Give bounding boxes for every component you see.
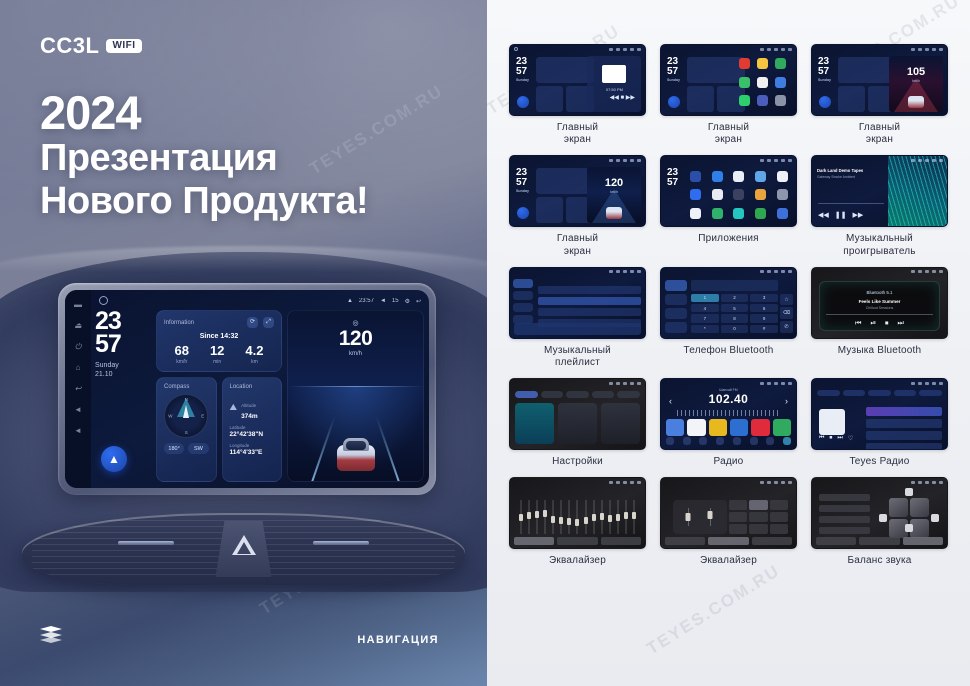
- thumbnail-settings[interactable]: [509, 378, 646, 450]
- preset-station[interactable]: [730, 419, 748, 436]
- watermark: TEYES.COM.RU: [643, 561, 784, 659]
- tab-item[interactable]: [894, 390, 917, 396]
- latitude-label: Latitude: [230, 425, 275, 430]
- dashboard-edge-highlight: [0, 246, 487, 272]
- play-pause-icon[interactable]: ⏯: [870, 320, 876, 328]
- balance-pad[interactable]: [889, 498, 929, 538]
- information-title: Information: [164, 320, 194, 326]
- dial-key[interactable]: *: [691, 325, 719, 333]
- option-row[interactable]: [819, 494, 870, 501]
- tab-balance[interactable]: [708, 537, 748, 545]
- dialer-sidebar[interactable]: [665, 280, 687, 334]
- back-arrow-icon[interactable]: ↩: [416, 298, 421, 305]
- expand-icon[interactable]: ⤢: [263, 317, 274, 328]
- recents-icon[interactable]: [665, 308, 687, 319]
- fader-pair[interactable]: [673, 500, 727, 534]
- tab-fader[interactable]: [601, 537, 641, 545]
- driving-view-mini: 120 km/h: [587, 167, 641, 223]
- screens-grid: 2357Sunday 07:50 PM ◀◀ ■ ▶▶ Главныйэкран…: [509, 44, 948, 568]
- location-card[interactable]: Location ⛰ Altitude 374m Latitude: [222, 377, 283, 482]
- tab-fader[interactable]: [752, 537, 792, 545]
- list-item[interactable]: [538, 297, 641, 305]
- list-item[interactable]: [538, 308, 641, 316]
- preset-station[interactable]: [687, 419, 705, 436]
- equalizer-tabs[interactable]: [816, 537, 943, 545]
- album-art: [819, 409, 845, 435]
- gallery-item[interactable]: Шанхай FM ‹ 102.40 ›: [660, 378, 797, 468]
- gallery-caption: Музыкальныйпроигрыватель: [843, 233, 915, 257]
- gallery-item[interactable]: Настройки: [509, 378, 646, 468]
- tab-system[interactable]: [617, 391, 640, 398]
- compass-n: N: [185, 397, 188, 402]
- car-model: [335, 431, 377, 471]
- thumbnail-home-apps[interactable]: 2357Sunday: [660, 44, 797, 116]
- balance-options[interactable]: [819, 494, 870, 538]
- progress-bar[interactable]: [818, 203, 884, 205]
- left-hero-panel: TEYES.COM.RU TEYES.COM.RU TEYES.COM.RU C…: [0, 0, 487, 686]
- fader[interactable]: [518, 500, 524, 534]
- bluetooth-version: Bluetooth 5.1: [812, 290, 947, 295]
- thumbnail-bluetooth-phone[interactable]: 1 2 3 4 5 6 7 8 9 * 0 # ☆: [660, 267, 797, 339]
- product-logo: CC3L WIFI: [40, 33, 142, 59]
- volume-icon: ◄: [380, 298, 386, 304]
- information-card[interactable]: Information ⟳ ⤢ Since 14:32 68 km: [156, 310, 282, 372]
- fader[interactable]: [631, 500, 637, 534]
- preset-button[interactable]: [749, 512, 767, 522]
- gallery-caption: Телефон Bluetooth: [684, 345, 774, 357]
- hazard-triangle-inner: [237, 542, 251, 554]
- preset-button[interactable]: [770, 512, 788, 522]
- power-icon[interactable]: ⏻: [74, 342, 83, 351]
- station-presets[interactable]: [666, 419, 791, 436]
- call-icon[interactable]: ✆: [780, 321, 793, 333]
- gallery-caption: Музыкальныйплейлист: [544, 345, 611, 369]
- track-title: Dark Land Demo Tapes: [817, 168, 885, 173]
- gallery-item[interactable]: Dark Land Demo Tapes Gateway Smoke Ambie…: [811, 155, 948, 257]
- radio-frequency: 102.40: [661, 392, 796, 406]
- stat-duration: 12 min: [210, 344, 224, 365]
- fader[interactable]: [526, 500, 532, 534]
- app-icon[interactable]: [777, 189, 788, 200]
- playback-controls[interactable]: ◀◀ ❚❚ ▶▶: [818, 211, 863, 219]
- fader[interactable]: [534, 500, 540, 534]
- next-icon[interactable]: ⏭: [837, 435, 842, 442]
- app-icon[interactable]: [755, 189, 766, 200]
- compass-s: S: [185, 430, 188, 435]
- preset-station[interactable]: [773, 419, 791, 436]
- app-icon[interactable]: [777, 208, 788, 219]
- favorite-icon[interactable]: [750, 437, 758, 445]
- navigation-arrow-icon[interactable]: [517, 96, 529, 108]
- compass-e: E: [201, 414, 204, 419]
- app-icon[interactable]: [733, 208, 744, 219]
- navigation-arrow-icon[interactable]: [668, 96, 680, 108]
- option-row[interactable]: [819, 516, 870, 523]
- balance-right-button[interactable]: [931, 514, 939, 522]
- equalizer-tabs[interactable]: [514, 537, 641, 545]
- thumbnail-equalizer-bands[interactable]: [509, 477, 646, 549]
- home-icon[interactable]: ⌂: [74, 363, 83, 372]
- favorite-icon[interactable]: ♡: [848, 435, 853, 442]
- thumb-clock: 2357Sunday: [667, 57, 680, 82]
- search-icon[interactable]: [683, 437, 691, 445]
- track-title: Feels Like Summer: [812, 299, 947, 304]
- menu-icon[interactable]: ▬: [74, 300, 83, 309]
- home-icon[interactable]: [99, 296, 108, 305]
- next-station-icon[interactable]: ›: [785, 396, 788, 406]
- screens-gallery-panel: TEYES.COM.RU TEYES.COM.RU TEYES.COM.RU 2…: [487, 0, 970, 686]
- app-icon[interactable]: [712, 171, 723, 182]
- apps-icon[interactable]: [783, 437, 791, 445]
- dial-key[interactable]: #: [750, 325, 778, 333]
- wifi-icon: ▲: [347, 298, 353, 304]
- gallery-item[interactable]: 2357Sunday 120 km/h Главныйэкран: [509, 155, 646, 257]
- now-playing-bar[interactable]: [514, 323, 641, 335]
- band-icon[interactable]: [666, 437, 674, 445]
- compass-degrees: 180°: [164, 443, 184, 454]
- back-icon[interactable]: ↩: [74, 384, 83, 393]
- tab-item[interactable]: [843, 390, 866, 396]
- thumbnail-music-playlist[interactable]: [509, 267, 646, 339]
- fader[interactable]: [623, 500, 629, 534]
- preset-station[interactable]: [709, 419, 727, 436]
- fader[interactable]: [550, 500, 556, 534]
- backspace-icon[interactable]: ⌫: [780, 307, 793, 319]
- vent-slot-left: [118, 541, 174, 545]
- dial-key[interactable]: 8: [721, 314, 749, 322]
- tab-balance[interactable]: [557, 537, 597, 545]
- tab-display[interactable]: [566, 391, 589, 398]
- location-title: Location: [230, 384, 275, 390]
- volume-down-icon[interactable]: ◄: [74, 405, 83, 414]
- gallery-item[interactable]: Музыкальныйплейлист: [509, 267, 646, 369]
- preset-button[interactable]: [729, 524, 747, 534]
- preset-button[interactable]: [770, 524, 788, 534]
- thumb-clock: 2357Sunday: [516, 168, 529, 193]
- tab-item[interactable]: [919, 390, 942, 396]
- thumbnail-apps[interactable]: 2357: [660, 155, 797, 227]
- waveform-art: [888, 156, 947, 226]
- app-icon[interactable]: [755, 208, 766, 219]
- list-item[interactable]: [866, 443, 942, 450]
- option-row[interactable]: [819, 527, 870, 534]
- head-unit-bezel: ▬ ⏏ ⏻ ⌂ ↩ ◄ ◄ ▲ 23:57 ◄ 15 ⚙ ↩: [58, 283, 436, 495]
- stop-icon[interactable]: ⏹: [829, 435, 832, 442]
- speaker-front-right[interactable]: [910, 498, 929, 517]
- previous-icon[interactable]: ◀◀: [818, 211, 829, 219]
- gallery-item[interactable]: Эквалайзер: [660, 477, 797, 567]
- compass-direction: SW: [188, 443, 208, 454]
- clock-date: 21.10: [95, 371, 151, 380]
- list-item[interactable]: [866, 407, 942, 416]
- app-icon[interactable]: [690, 189, 701, 200]
- dial-key[interactable]: 3: [750, 294, 778, 302]
- status-bar: ▲ 23:57 ◄ 15 ⚙ ↩: [347, 295, 421, 307]
- gallery-caption: Teyes Радио: [850, 456, 910, 468]
- dial-key[interactable]: 9: [750, 314, 778, 322]
- next-icon[interactable]: ⏭: [898, 320, 904, 328]
- thumbnail-home-road[interactable]: 2357Sunday 120 km/h: [509, 155, 646, 227]
- gallery-caption: Главныйэкран: [557, 122, 598, 146]
- altitude-value: 374m: [241, 413, 258, 420]
- preset-station[interactable]: [751, 419, 769, 436]
- thumb-clock: 2357Sunday: [516, 57, 529, 82]
- altitude-label: Altitude: [241, 403, 256, 408]
- fader[interactable]: [607, 500, 613, 534]
- gallery-item[interactable]: 2357Sunday 07:50 PM ◀◀ ■ ▶▶ Главныйэкран: [509, 44, 646, 146]
- dial-key[interactable]: 5: [721, 304, 749, 312]
- next-icon[interactable]: ▶▶: [853, 211, 864, 219]
- app-icon[interactable]: [733, 189, 744, 200]
- clock-widget: 23 57 Sunday 21.10 ▲: [95, 310, 151, 482]
- preset-buttons[interactable]: [729, 500, 788, 534]
- headline-line2: Нового Продукта!: [40, 180, 368, 223]
- app-icon[interactable]: [690, 171, 701, 182]
- fader[interactable]: [574, 500, 580, 534]
- tab-eq[interactable]: [816, 537, 856, 545]
- call-icon[interactable]: [665, 322, 687, 333]
- app-icon[interactable]: [690, 208, 701, 219]
- gallery-caption: Настройки: [552, 456, 603, 468]
- gallery-item[interactable]: 2357Sunday Главныйэкран: [660, 44, 797, 146]
- gallery-caption: Баланс звука: [847, 555, 911, 567]
- star-icon[interactable]: ☆: [780, 294, 793, 306]
- navigation-arrow-icon[interactable]: ▲: [101, 446, 127, 472]
- compass-w: W: [168, 414, 172, 419]
- tab-eq[interactable]: [514, 537, 554, 545]
- dial-key[interactable]: 0: [721, 325, 749, 333]
- previous-icon[interactable]: ⏮: [819, 435, 824, 442]
- app-icon-grid[interactable]: [687, 168, 791, 221]
- thumbnail-radio[interactable]: Шанхай FM ‹ 102.40 ›: [660, 378, 797, 450]
- wifi-badge: WIFI: [106, 39, 141, 53]
- settings-cards[interactable]: [515, 403, 640, 444]
- dial-pad[interactable]: 1 2 3 4 5 6 7 8 9 * 0 #: [691, 294, 778, 333]
- navigation-arrow-icon[interactable]: [517, 207, 529, 219]
- mountain-icon: ⛰: [230, 402, 238, 413]
- tab-item[interactable]: [868, 390, 891, 396]
- fader[interactable]: [583, 500, 589, 534]
- driving-view-mini: 105 km/h: [889, 56, 943, 112]
- app-icon[interactable]: [755, 171, 766, 182]
- stat-value: 68: [174, 344, 188, 357]
- tab-sound[interactable]: [541, 391, 564, 398]
- tab-eq[interactable]: [665, 537, 705, 545]
- progress-bar[interactable]: [826, 314, 933, 315]
- tab-general[interactable]: [592, 391, 615, 398]
- dial-key[interactable]: 7: [691, 314, 719, 322]
- equalizer-faders[interactable]: [518, 500, 637, 534]
- compass-needle: [183, 405, 189, 418]
- headline: 2024 Презентация Нового Продукта!: [40, 88, 368, 222]
- track-artist: Chillout Sessions: [812, 306, 947, 310]
- clock-minutes: 57: [95, 333, 151, 356]
- latitude-value: 22°42'38"N: [230, 431, 275, 438]
- balance-left-button[interactable]: [879, 514, 887, 522]
- dialer-actions[interactable]: ☆ ⌫ ✆: [780, 294, 793, 333]
- settings-tabs[interactable]: [515, 391, 640, 398]
- stat-unit: km: [245, 359, 263, 365]
- preset-station[interactable]: [666, 419, 684, 436]
- dial-key[interactable]: 2: [721, 294, 749, 302]
- tab-item[interactable]: [817, 390, 840, 396]
- tab-wifi[interactable]: [515, 391, 538, 398]
- list-item[interactable]: [538, 286, 641, 294]
- stat-value: 4.2: [245, 344, 263, 357]
- stop-icon[interactable]: ⏹: [885, 320, 889, 328]
- status-time: 23:57: [359, 298, 374, 304]
- gallery-item[interactable]: Эквалайзер: [509, 477, 646, 567]
- balance-up-button[interactable]: [905, 488, 913, 496]
- nav-label: НАВИГАЦИЯ: [357, 634, 439, 646]
- compass-title: Compass: [164, 384, 209, 390]
- gallery-caption: Музыка Bluetooth: [838, 345, 922, 357]
- app-icon[interactable]: [712, 189, 723, 200]
- logo-model: CC3L: [40, 33, 99, 59]
- status-volume: 15: [392, 298, 399, 304]
- eq-icon[interactable]: [716, 437, 724, 445]
- volume-up-icon[interactable]: ◄: [74, 426, 83, 435]
- vent-slot-right: [313, 541, 369, 545]
- stat-speed: 68 km/h: [174, 344, 188, 365]
- preset-button[interactable]: [729, 500, 747, 510]
- information-since: Since 14:32: [164, 333, 274, 340]
- previous-icon[interactable]: ⏮: [855, 320, 861, 328]
- preset-button[interactable]: [770, 500, 788, 510]
- refresh-icon[interactable]: ⟳: [247, 317, 258, 328]
- preset-button[interactable]: [749, 524, 767, 534]
- screen-side-rail[interactable]: ▬ ⏏ ⏻ ⌂ ↩ ◄ ◄: [65, 290, 91, 488]
- playback-controls[interactable]: ⏮ ⏯ ⏹ ⏭: [812, 320, 947, 328]
- navigation-arrow-icon[interactable]: [819, 96, 831, 108]
- gallery-item[interactable]: 2357Sunday 105 km/h Главныйэкран: [811, 44, 948, 146]
- clock-day: Sunday: [95, 362, 151, 371]
- head-unit-screen[interactable]: ▬ ⏏ ⏻ ⌂ ↩ ◄ ◄ ▲ 23:57 ◄ 15 ⚙ ↩: [65, 290, 429, 488]
- speed-value: 120: [339, 328, 373, 349]
- tab-fader[interactable]: [903, 537, 943, 545]
- thumbnail-music-player[interactable]: Dark Land Demo Tapes Gateway Smoke Ambie…: [811, 155, 948, 227]
- fader[interactable]: [542, 500, 548, 534]
- balance-down-button[interactable]: [905, 524, 913, 532]
- gallery-caption: Главныйэкран: [859, 122, 900, 146]
- dial-key[interactable]: 4: [691, 304, 719, 312]
- stat-unit: km/h: [174, 359, 188, 365]
- driving-view[interactable]: ◎ 120 km/h: [287, 310, 424, 482]
- pause-icon[interactable]: ❚❚: [835, 211, 847, 219]
- gallery-caption: Эквалайзер: [700, 555, 757, 567]
- gallery-caption: Приложения: [698, 233, 759, 245]
- radio-toolbar[interactable]: [666, 437, 791, 445]
- more-card[interactable]: [601, 403, 640, 444]
- compass-dial: N E S W: [164, 394, 208, 438]
- thumbnail-home-media[interactable]: 2357Sunday 07:50 PM ◀◀ ■ ▶▶: [509, 44, 646, 116]
- dial-key[interactable]: 6: [750, 304, 778, 312]
- stat-distance: 4.2 km: [245, 344, 263, 365]
- gallery-item[interactable]: Bluetooth 5.1 Feels Like Summer Chillout…: [811, 267, 948, 369]
- teyes-radio-tabs[interactable]: [817, 390, 942, 396]
- gallery-item[interactable]: ⏮ ⏹ ⏭ ♡ Teyes Радио: [811, 378, 948, 468]
- fader[interactable]: [591, 500, 597, 534]
- playlist-tab[interactable]: [513, 303, 533, 312]
- layers-icon: [40, 626, 62, 644]
- list-item[interactable]: [866, 431, 942, 440]
- list-icon[interactable]: [699, 437, 707, 445]
- hotspot-card[interactable]: [558, 403, 597, 444]
- app-icon[interactable]: [733, 171, 744, 182]
- contacts-icon[interactable]: [665, 294, 687, 305]
- keypad-icon[interactable]: [665, 280, 687, 291]
- gallery-item[interactable]: 2357: [660, 155, 797, 257]
- gallery-caption: Радио: [714, 456, 744, 468]
- eject-icon[interactable]: ⏏: [74, 321, 83, 330]
- headline-year: 2024: [40, 88, 368, 137]
- speed-icon: ◎: [352, 319, 358, 327]
- equalizer-tabs[interactable]: [665, 537, 792, 545]
- fader[interactable]: [566, 500, 572, 534]
- option-row[interactable]: [819, 505, 870, 512]
- longitude-value: 114°4'33"E: [230, 449, 275, 456]
- preset-button[interactable]: [729, 512, 747, 522]
- frequency-scale[interactable]: [677, 410, 780, 416]
- dial-key[interactable]: 1: [691, 294, 719, 302]
- stat-unit: min: [210, 359, 224, 365]
- thumbnail-sound-balance[interactable]: [811, 477, 948, 549]
- air-vents: [22, 513, 465, 585]
- track-artist: Gateway Smoke Ambient: [817, 175, 885, 179]
- fader[interactable]: [615, 500, 621, 534]
- playlist-tab[interactable]: [513, 291, 533, 300]
- fader[interactable]: [599, 500, 605, 534]
- gallery-caption: Главныйэкран: [708, 122, 749, 146]
- gallery-item[interactable]: 1 2 3 4 5 6 7 8 9 * 0 # ☆: [660, 267, 797, 369]
- tab-balance[interactable]: [859, 537, 899, 545]
- thumbnail-teyes-radio[interactable]: ⏮ ⏹ ⏭ ♡: [811, 378, 948, 450]
- thumbnail-bluetooth-music[interactable]: Bluetooth 5.1 Feels Like Summer Chillout…: [811, 267, 948, 339]
- phone-number-input[interactable]: [691, 280, 778, 291]
- stat-value: 12: [210, 344, 224, 357]
- app-icon[interactable]: [777, 171, 788, 182]
- speed-value: 120: [605, 177, 623, 189]
- horizon-line: [288, 386, 423, 387]
- speed-unit: km/h: [349, 351, 362, 357]
- compass-card[interactable]: Compass N E S W 180°: [156, 377, 217, 482]
- thumbnail-home-road-red[interactable]: 2357Sunday 105 km/h: [811, 44, 948, 116]
- gallery-caption: Главныйэкран: [557, 233, 598, 257]
- playback-controls[interactable]: ⏮ ⏹ ⏭ ♡: [819, 435, 853, 442]
- list-item[interactable]: [866, 419, 942, 428]
- preset-button[interactable]: [749, 500, 767, 510]
- wifi-card[interactable]: [515, 403, 554, 444]
- thumb-clock: 2357: [667, 168, 678, 187]
- gallery-item[interactable]: Баланс звука: [811, 477, 948, 567]
- presentation-slide: TEYES.COM.RU TEYES.COM.RU TEYES.COM.RU C…: [0, 0, 970, 686]
- settings-icon[interactable]: [766, 437, 774, 445]
- playlist-tab[interactable]: [513, 279, 533, 288]
- thumb-clock: 2357Sunday: [818, 57, 831, 82]
- rds-icon[interactable]: [733, 437, 741, 445]
- playlist-rows[interactable]: [538, 286, 641, 322]
- thumbnail-equalizer-presets[interactable]: [660, 477, 797, 549]
- station-list[interactable]: [866, 407, 942, 444]
- speaker-front-left[interactable]: [889, 498, 908, 517]
- gallery-caption: Эквалайзер: [549, 555, 606, 567]
- longitude-label: Longitude: [230, 443, 275, 448]
- gear-icon[interactable]: ⚙: [405, 298, 410, 305]
- headline-line1: Презентация: [40, 137, 368, 180]
- fader[interactable]: [558, 500, 564, 534]
- app-icon[interactable]: [712, 208, 723, 219]
- speed-value: 105: [907, 66, 925, 78]
